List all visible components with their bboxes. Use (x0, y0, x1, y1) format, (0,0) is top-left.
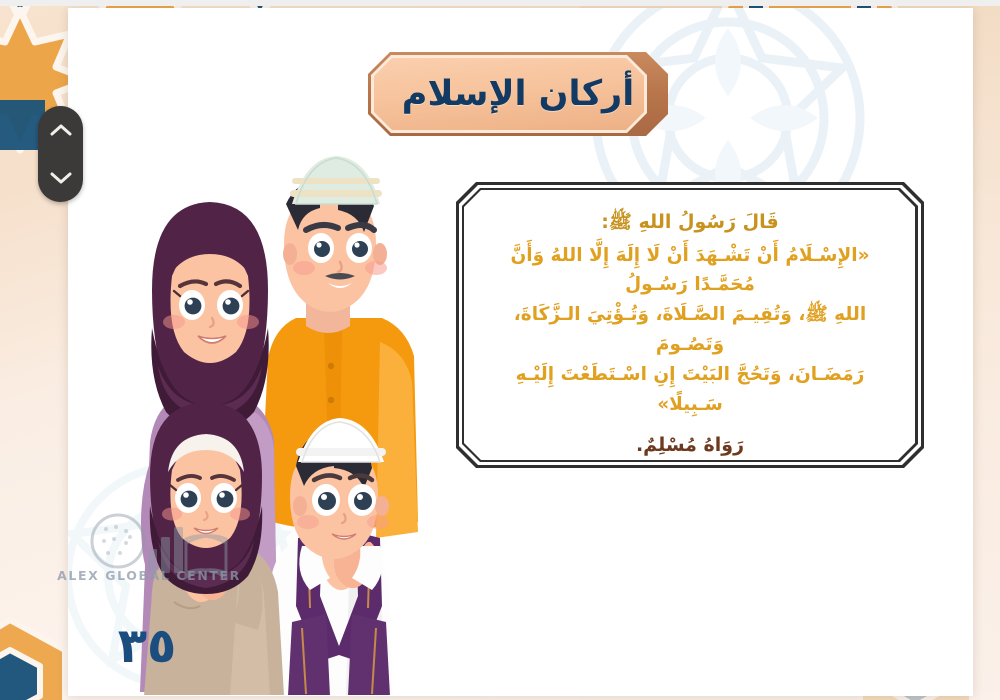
muslim-family-illustration (128, 150, 473, 695)
page-navigation-control[interactable] (38, 106, 83, 202)
page-title-banner: أركان الإسلام (368, 52, 668, 136)
chevron-down-icon[interactable] (44, 161, 78, 195)
hadith-line-2: اللهِ ﷺ، وَتُقِيـمَ الصَّـلَاةَ، وَتُـؤْ… (486, 300, 894, 360)
page-number: ٣٥ (72, 618, 222, 674)
banner-inner-fill: أركان الإسلام (374, 58, 662, 130)
hadith-paper: قَالَ رَسُولُ اللهِ ﷺ: «الإِسْـلَامُ أَن… (464, 190, 916, 460)
hadith-source: رَوَاهُ مُسْلِمٌ. (486, 434, 894, 456)
book-viewer: أركان الإسلام (0, 0, 1000, 700)
hadith-line-3: رَمَضَـانَ، وَتَحُجَّ البَيْتَ إِنِ اسْـ… (486, 360, 894, 420)
hadith-intro: قَالَ رَسُولُ اللهِ ﷺ: (486, 208, 894, 237)
hadith-text-box: قَالَ رَسُولُ اللهِ ﷺ: «الإِسْـلَامُ أَن… (456, 182, 924, 468)
viewer-top-strip (0, 0, 1000, 6)
page-title: أركان الإسلام (402, 77, 634, 112)
chevron-up-icon[interactable] (44, 113, 78, 147)
hadith-line-1: «الإِسْـلَامُ أَنْ تَشْـهَدَ أَنْ لَا إِ… (486, 241, 894, 301)
